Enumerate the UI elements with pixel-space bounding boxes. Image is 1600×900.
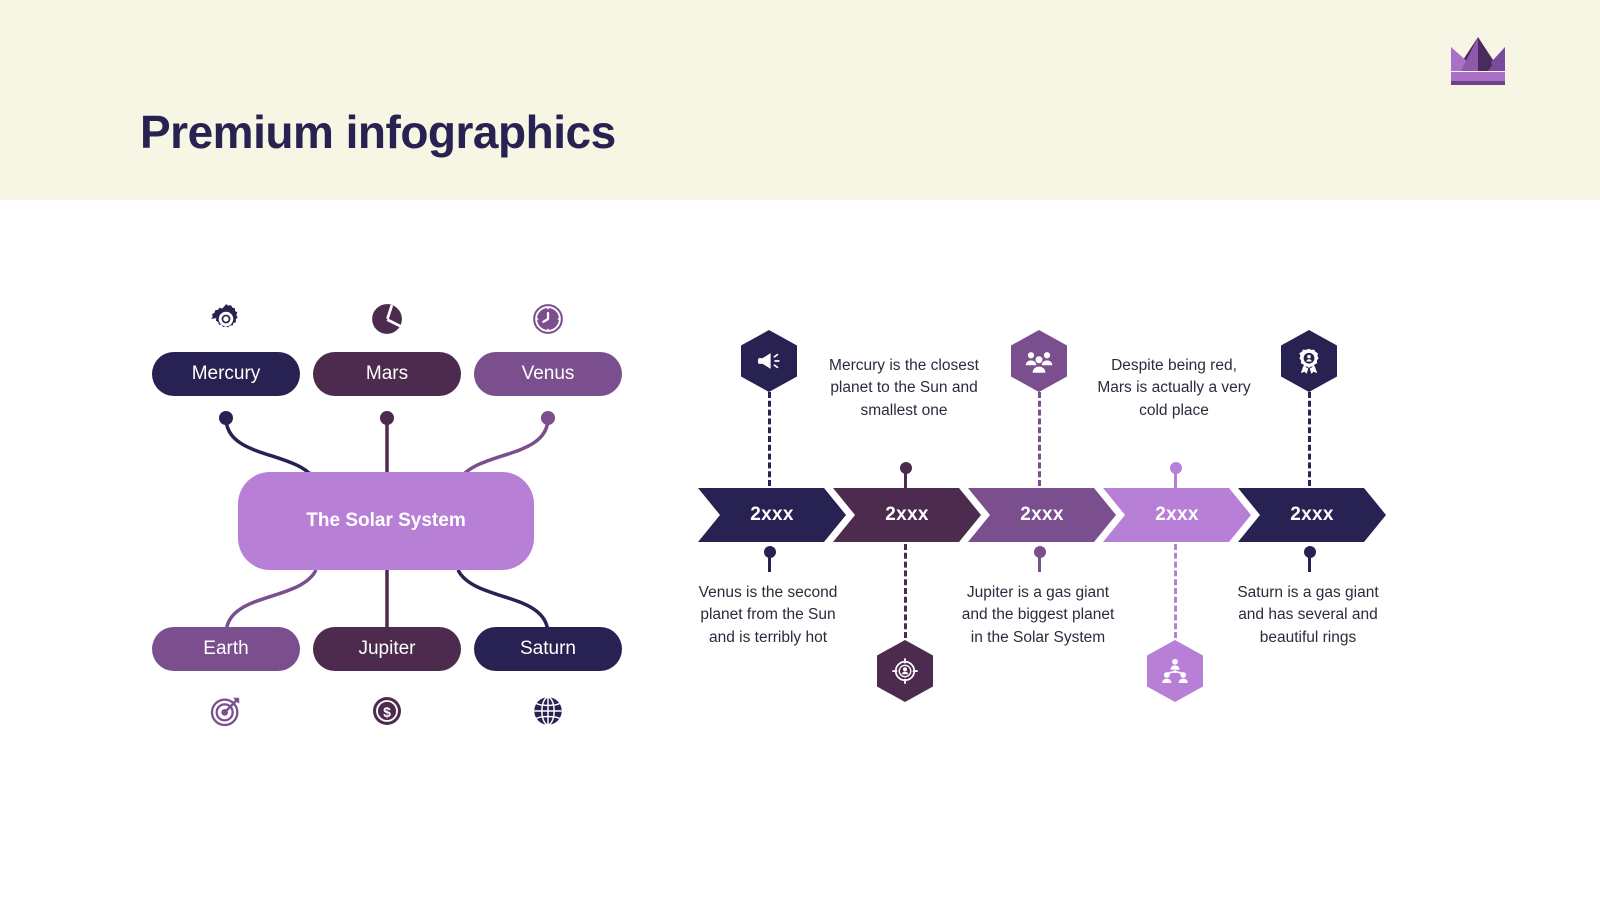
timeline-step-label: 2xxx xyxy=(1020,504,1063,526)
timeline-step-label: 2xxx xyxy=(1155,504,1198,526)
award-badge-icon xyxy=(1281,330,1337,392)
mindmap-node-label: Saturn xyxy=(520,638,576,660)
timeline-caption-1: Venus is the second planet from the Sun … xyxy=(688,582,848,649)
timeline-caption-5: Saturn is a gas giant and has several an… xyxy=(1228,582,1388,649)
timeline-step-5[interactable]: 2xxx xyxy=(1238,488,1386,542)
hex-connector-line xyxy=(1174,544,1177,638)
timeline-step-label: 2xxx xyxy=(750,504,793,526)
page-title: Premium infographics xyxy=(140,105,616,159)
timeline-step-2[interactable]: 2xxx xyxy=(833,488,981,542)
hex-connector-line xyxy=(904,544,907,638)
timeline-caption-2: Mercury is the closest planet to the Sun… xyxy=(824,355,984,422)
timeline-step-label: 2xxx xyxy=(1290,504,1333,526)
mindmap-node-mercury[interactable]: Mercury xyxy=(152,352,300,396)
timeline-step-label: 2xxx xyxy=(885,504,928,526)
timeline-step-3[interactable]: 2xxx xyxy=(968,488,1116,542)
caption-pin xyxy=(904,462,907,488)
timeline-diagram: 2xxx 2xxx 2xxx 2xxx 2xxx xyxy=(690,300,1400,740)
header-band xyxy=(0,0,1600,200)
gear-icon xyxy=(205,298,247,340)
mindmap-node-label: Mercury xyxy=(192,363,261,385)
mindmap-node-earth[interactable]: Earth xyxy=(152,627,300,671)
mindmap-node-mars[interactable]: Mars xyxy=(313,352,461,396)
caption-pin xyxy=(1308,546,1311,572)
team-group-icon xyxy=(1011,330,1067,392)
mindmap-node-venus[interactable]: Venus xyxy=(474,352,622,396)
caption-pin xyxy=(768,546,771,572)
timeline-step-1[interactable]: 2xxx xyxy=(698,488,846,542)
pie-chart-icon xyxy=(366,298,408,340)
target-user-icon xyxy=(877,640,933,702)
mindmap-node-label: Jupiter xyxy=(358,638,415,660)
org-chart-icon xyxy=(1147,640,1203,702)
crown-logo xyxy=(1443,33,1513,85)
svg-text:$: $ xyxy=(383,704,391,720)
mindmap-diagram: Mercury Mars Venus The Solar System Eart… xyxy=(130,270,670,740)
mindmap-node-label: Mars xyxy=(366,363,408,385)
hex-connector-line xyxy=(1038,392,1041,486)
target-icon xyxy=(205,690,247,732)
dollar-coin-icon: $ xyxy=(366,690,408,732)
hex-connector-line xyxy=(768,392,771,486)
timeline-caption-4: Despite being red, Mars is actually a ve… xyxy=(1094,355,1254,422)
mindmap-center-label: The Solar System xyxy=(306,510,465,532)
clock-icon xyxy=(527,298,569,340)
mindmap-node-label: Venus xyxy=(522,363,575,385)
caption-pin xyxy=(1038,546,1041,572)
hex-connector-line xyxy=(1308,392,1311,486)
megaphone-icon xyxy=(741,330,797,392)
mindmap-center-node[interactable]: The Solar System xyxy=(238,472,534,570)
globe-icon xyxy=(527,690,569,732)
timeline-caption-3: Jupiter is a gas giant and the biggest p… xyxy=(958,582,1118,649)
mindmap-node-label: Earth xyxy=(203,638,248,660)
caption-pin xyxy=(1174,462,1177,488)
mindmap-node-saturn[interactable]: Saturn xyxy=(474,627,622,671)
mindmap-node-jupiter[interactable]: Jupiter xyxy=(313,627,461,671)
timeline-step-4[interactable]: 2xxx xyxy=(1103,488,1251,542)
